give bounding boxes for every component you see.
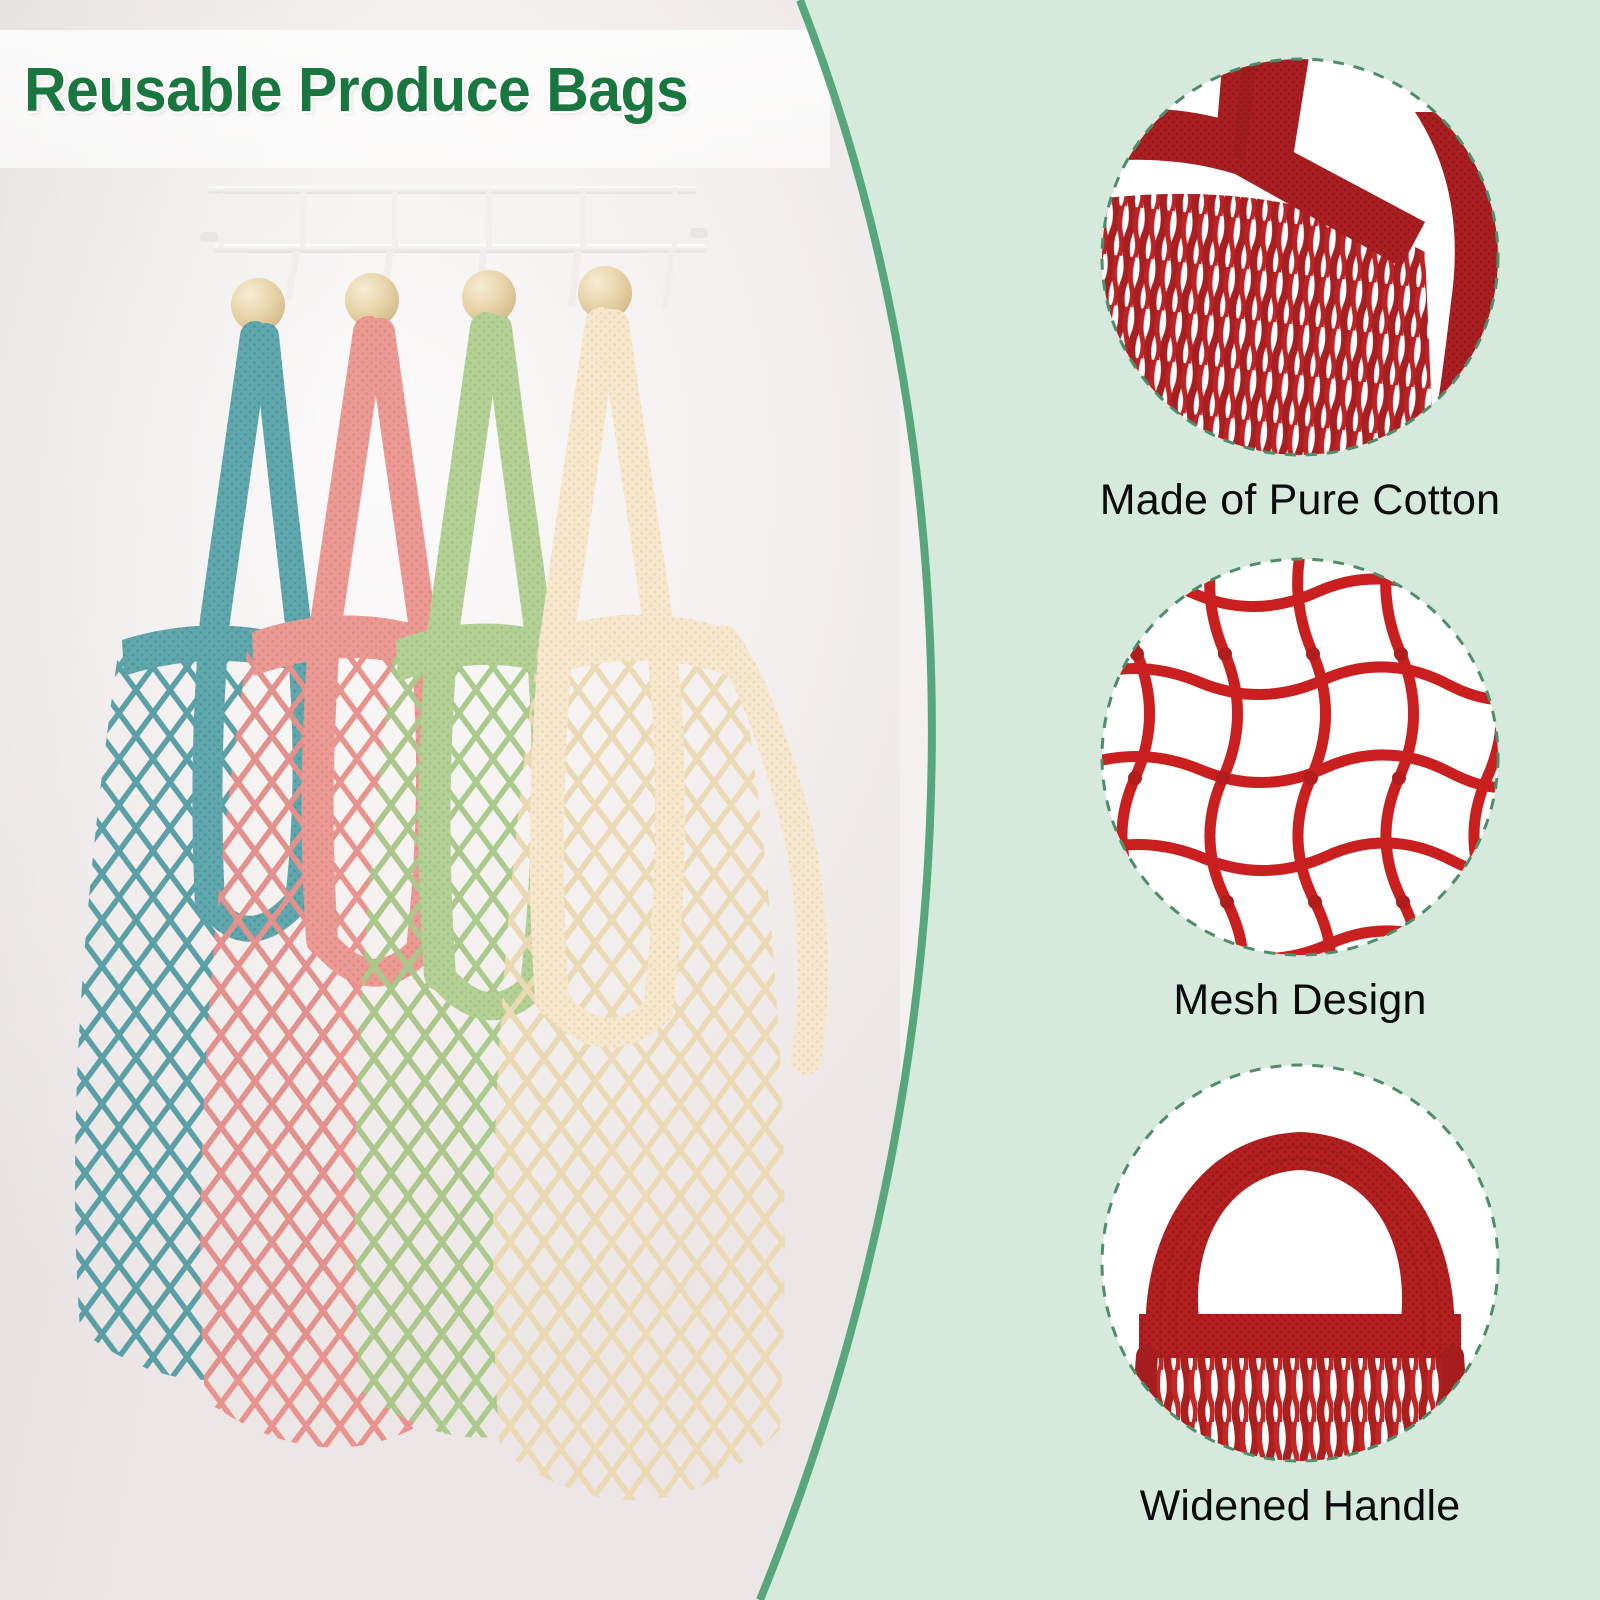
feature-card-mesh-design: Mesh Design [1040, 552, 1560, 1025]
feature-image-wrap [1095, 52, 1505, 462]
feature-caption: Mesh Design [1040, 976, 1560, 1025]
feature-image-wrap [1095, 1058, 1505, 1468]
feature-caption: Widened Handle [1040, 1482, 1560, 1531]
mesh-design-closeup-icon [1095, 552, 1505, 962]
widened-handle-closeup-icon [1095, 1058, 1505, 1468]
feature-card-widened-handle: Widened Handle [1040, 1058, 1560, 1531]
product-infographic: Reusable Produce Bags [0, 0, 1600, 1600]
feature-card-made-of-pure-cotton: Made of Pure Cotton [1040, 52, 1560, 525]
feature-caption: Made of Pure Cotton [1040, 476, 1560, 525]
feature-image-wrap [1095, 552, 1505, 962]
pure-cotton-closeup-icon [1095, 52, 1505, 462]
page-title: Reusable Produce Bags [24, 60, 688, 122]
product-photo: Reusable Produce Bags [0, 0, 900, 1600]
hanging-bags-illustration [0, 0, 900, 1600]
